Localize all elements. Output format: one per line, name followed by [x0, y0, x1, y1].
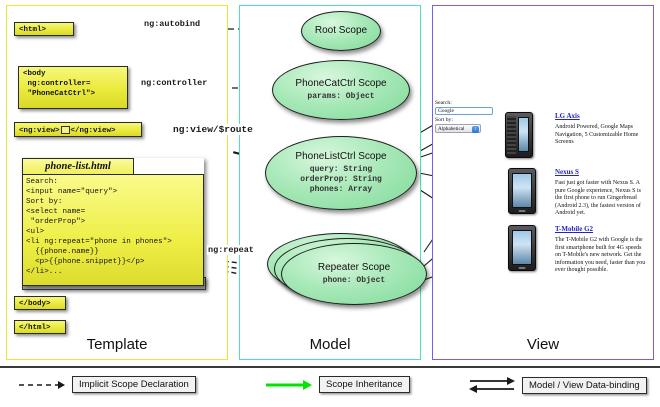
scope-phonecatctrl-name: PhoneCatCtrl Scope	[295, 78, 386, 89]
tag-html-close: </html>	[14, 320, 66, 334]
phone-snippet: The T-Mobile G2 with Google is the first…	[555, 237, 647, 275]
scope-repeater-name: Repeater Scope	[318, 262, 390, 273]
sort-select-value: Alphabetical	[438, 126, 465, 132]
legend-label-inheritance: Scope Inheritance	[319, 376, 410, 393]
ngview-slot-icon	[61, 126, 70, 134]
label-ng-view-route: ng:view/$route	[172, 124, 254, 135]
file-card-phone-list: phone-list.html Search: <input name="que…	[22, 158, 204, 286]
panel-label-model: Model	[239, 336, 421, 353]
phone-link[interactable]: Nexus S	[555, 168, 647, 177]
scope-repeater-props: phone: Object	[323, 276, 385, 286]
scope-phonelistctrl-name: PhoneListCtrl Scope	[295, 151, 386, 162]
phone-snippet: Fast just got faster with Nexus S. A pur…	[555, 180, 647, 218]
legend-label-implicit: Implicit Scope Declaration	[72, 376, 196, 393]
scope-phonecatctrl: PhoneCatCtrl Scope params: Object	[272, 60, 410, 120]
list-item: LG Axis Android Powered, Google Maps Nav…	[555, 112, 647, 147]
tag-body-open: <body ng:controller= "PhoneCatCtrl">	[18, 66, 128, 109]
tag-body-close: </body>	[14, 296, 66, 310]
sort-label: Sort by:	[435, 117, 497, 124]
double-arrow-icon	[468, 376, 516, 394]
phone-link[interactable]: T-Mobile G2	[555, 225, 647, 234]
scope-repeater: Repeater Scope phone: Object	[281, 243, 427, 305]
legend: Implicit Scope Declaration Scope Inherit…	[0, 366, 660, 407]
ngview-close-label: </ng:view>	[71, 127, 116, 135]
phone-thumbnail	[508, 225, 536, 271]
legend-item-binding: Model / View Data-binding	[468, 376, 647, 394]
tag-html-open: <html>	[14, 22, 74, 36]
phone-link[interactable]: LG Axis	[555, 112, 647, 121]
scope-phonecatctrl-props: params: Object	[307, 92, 374, 102]
scope-phonelistctrl-props: query: String orderProp: String phones: …	[300, 165, 382, 195]
search-input[interactable]: Google	[435, 107, 493, 115]
file-card-code: Search: <input name="query"> Sort by: <s…	[22, 174, 204, 286]
label-ng-repeat: ng:repeat	[207, 245, 255, 255]
phone-snippet: Android Powered, Google Maps Navigation,…	[555, 124, 647, 147]
scope-phonelistctrl: PhoneListCtrl Scope query: String orderP…	[265, 136, 417, 210]
list-item: Nexus S Fast just got faster with Nexus …	[555, 168, 647, 218]
dashed-arrow-icon	[18, 379, 66, 391]
scope-root-name: Root Scope	[315, 25, 367, 36]
list-item: T-Mobile G2 The T-Mobile G2 with Google …	[555, 225, 647, 275]
phone-thumbnail	[508, 168, 536, 214]
search-label: Search:	[435, 100, 497, 107]
legend-item-implicit: Implicit Scope Declaration	[18, 376, 196, 393]
scope-root: Root Scope	[301, 11, 381, 51]
legend-label-binding: Model / View Data-binding	[522, 377, 647, 394]
phone-thumbnail	[505, 112, 533, 158]
label-ng-autobind: ng:autobind	[143, 19, 201, 29]
panel-label-template: Template	[6, 336, 228, 353]
diagram-canvas: Template Model View <html> <body ng:cont…	[0, 0, 660, 405]
sort-select[interactable]: Alphabetical ↕	[435, 124, 481, 133]
chevron-updown-icon: ↕	[472, 126, 479, 133]
search-widget: Search: Google Sort by: Alphabetical ↕	[435, 100, 497, 133]
legend-item-inheritance: Scope Inheritance	[265, 376, 410, 393]
ngview-open-label: <ng:view>	[19, 127, 60, 135]
panel-label-view: View	[432, 336, 654, 353]
label-ng-controller: ng:controller	[140, 78, 208, 88]
file-card-title: phone-list.html	[22, 158, 134, 175]
tag-ngview: <ng:view></ng:view>	[14, 122, 142, 137]
green-arrow-icon	[265, 379, 313, 391]
